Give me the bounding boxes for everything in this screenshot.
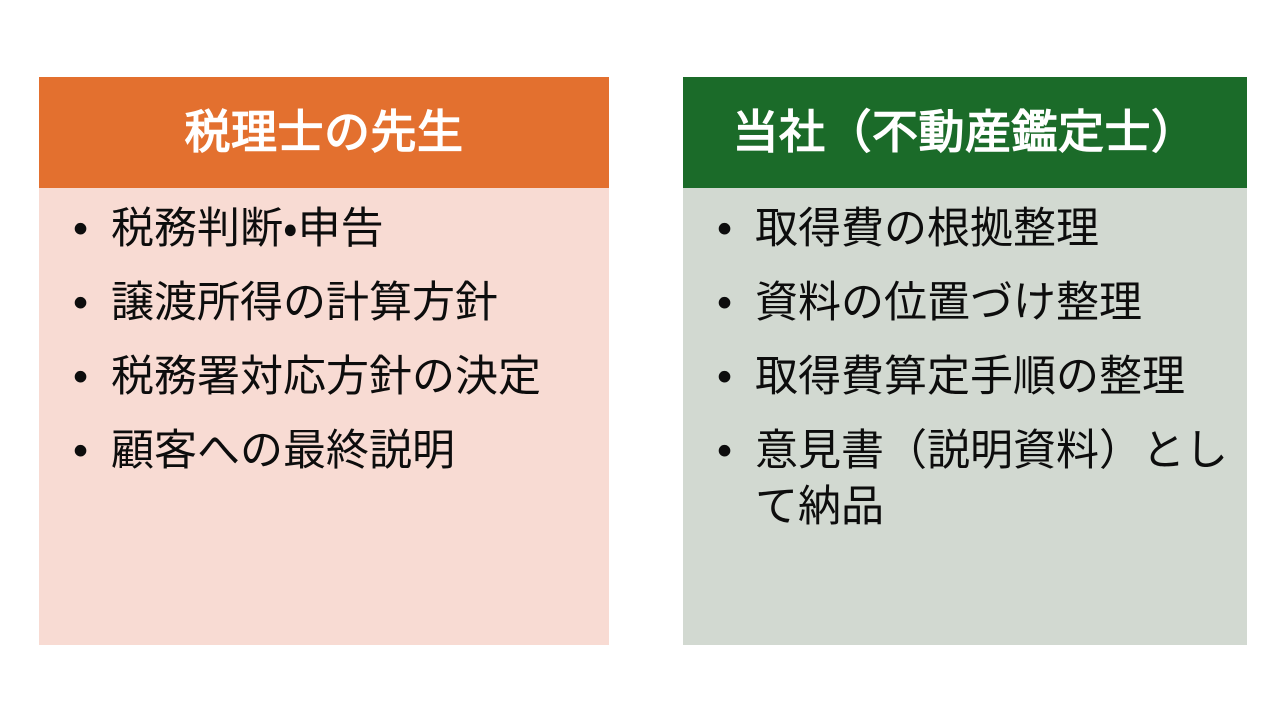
bullet-list-tax-accountant: • 税務判断・申告 • 譲渡所得の計算方針 • 税務署対応方針の決定 • 顧客へ… (63, 202, 591, 480)
column-header-tax-accountant: 税理士の先生 (39, 77, 609, 188)
list-item-label: 取得費の根拠整理 (755, 202, 1229, 258)
bullet-dot-icon: • (717, 424, 747, 480)
list-item: • 資料の位置づけ整理 (707, 276, 1229, 332)
bullet-dot-icon: • (717, 276, 747, 332)
list-item-label: 顧客への最終説明 (111, 424, 591, 480)
list-item-label: 意見書（説明資料）として納品 (755, 424, 1229, 536)
column-title-our-company: 当社（不動産鑑定士） (733, 107, 1198, 158)
list-item: • 税務判断・申告 (63, 202, 591, 258)
bullet-dot-icon: • (73, 276, 103, 332)
bullet-dot-icon: • (717, 350, 747, 406)
list-item-label: 税務署対応方針の決定 (111, 350, 591, 406)
bullet-dot-icon: • (717, 202, 747, 258)
bullet-dot-icon: • (73, 350, 103, 406)
list-item: • 取得費の根拠整理 (707, 202, 1229, 258)
list-item: • 税務署対応方針の決定 (63, 350, 591, 406)
list-item: • 譲渡所得の計算方針 (63, 276, 591, 332)
column-header-our-company: 当社（不動産鑑定士） (683, 77, 1247, 188)
column-tax-accountant: 税理士の先生 • 税務判断・申告 • 譲渡所得の計算方針 • 税務署対応方針の決… (39, 77, 609, 645)
list-item: • 意見書（説明資料）として納品 (707, 424, 1229, 536)
list-item-label: 譲渡所得の計算方針 (111, 276, 591, 332)
list-item-label: 税務判断・申告 (111, 202, 591, 258)
column-body-tax-accountant: • 税務判断・申告 • 譲渡所得の計算方針 • 税務署対応方針の決定 • 顧客へ… (39, 188, 609, 645)
column-title-tax-accountant: 税理士の先生 (185, 107, 464, 158)
bullet-dot-icon: • (73, 202, 103, 258)
list-item-label: 資料の位置づけ整理 (755, 276, 1229, 332)
column-body-our-company: • 取得費の根拠整理 • 資料の位置づけ整理 • 取得費算定手順の整理 • 意見… (683, 188, 1247, 645)
list-item: • 顧客への最終説明 (63, 424, 591, 480)
bullet-list-our-company: • 取得費の根拠整理 • 資料の位置づけ整理 • 取得費算定手順の整理 • 意見… (707, 202, 1229, 535)
list-item-label: 取得費算定手順の整理 (755, 350, 1229, 406)
list-item: • 取得費算定手順の整理 (707, 350, 1229, 406)
column-our-company: 当社（不動産鑑定士） • 取得費の根拠整理 • 資料の位置づけ整理 • 取得費算… (683, 77, 1247, 645)
comparison-slide: 税理士の先生 • 税務判断・申告 • 譲渡所得の計算方針 • 税務署対応方針の決… (0, 0, 1280, 720)
bullet-dot-icon: • (73, 424, 103, 480)
